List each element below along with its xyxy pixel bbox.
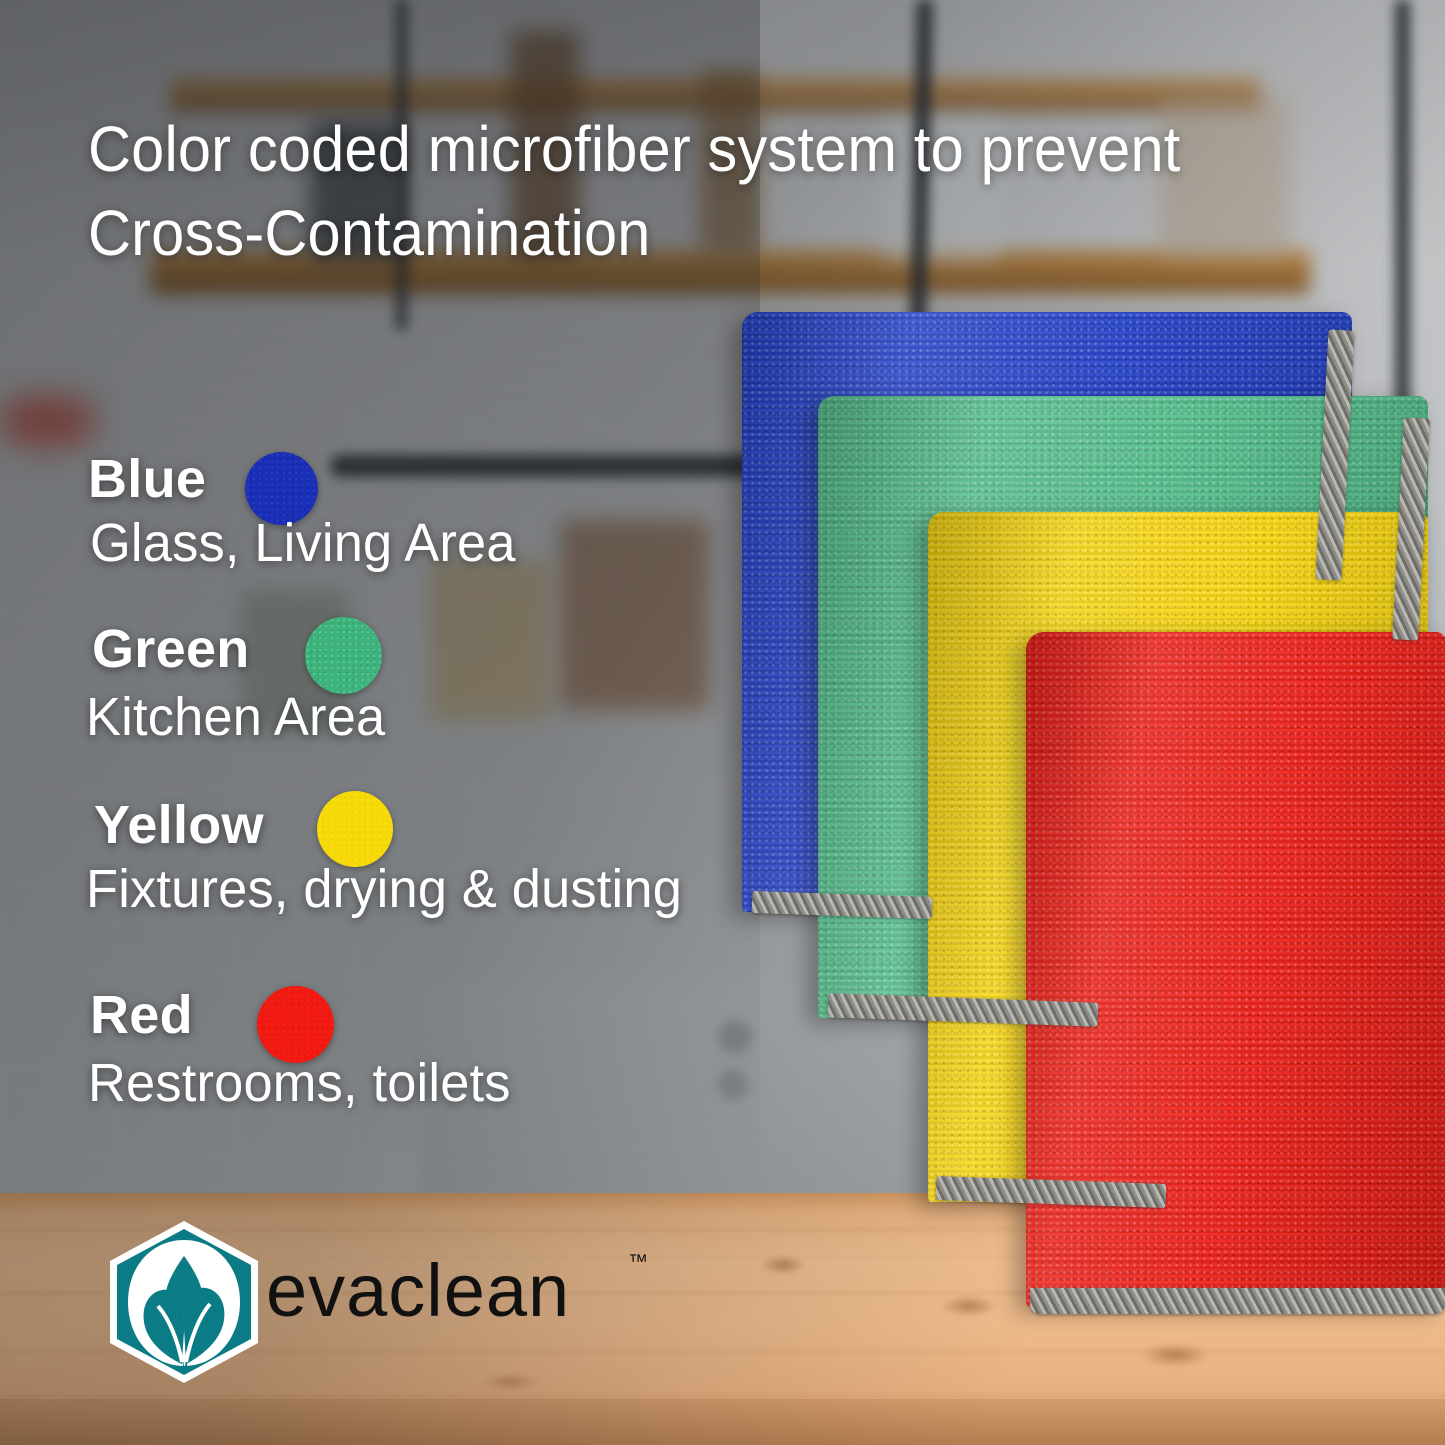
legend-description-yellow: Fixtures, drying & dusting — [86, 862, 682, 916]
brand-logo: evaclean ™ — [98, 1218, 658, 1383]
hexagon-droplet-leaves-icon — [98, 1218, 270, 1391]
yellow-swatch — [317, 791, 393, 867]
red-cloth-serged-edge-bottom — [1030, 1288, 1445, 1314]
legend-color-name-green: Green — [92, 622, 250, 676]
legend-color-name-yellow: Yellow — [94, 798, 264, 852]
green-swatch — [305, 617, 382, 694]
legend-description-blue: Glass, Living Area — [90, 516, 516, 570]
legend-color-name-red: Red — [90, 988, 193, 1042]
brand-wordmark: evaclean — [266, 1254, 570, 1328]
legend-description-red: Restrooms, toilets — [88, 1056, 511, 1110]
red-swatch — [257, 986, 334, 1063]
legend-color-name-blue: Blue — [88, 452, 206, 506]
legend-description-green: Kitchen Area — [86, 690, 385, 744]
red-microfiber-cloth — [1026, 632, 1445, 1308]
product-marketing-poster: Color coded microfiber system to prevent… — [0, 0, 1445, 1445]
trademark-symbol: ™ — [628, 1252, 648, 1272]
page-title: Color coded microfiber system to prevent… — [88, 108, 1306, 276]
